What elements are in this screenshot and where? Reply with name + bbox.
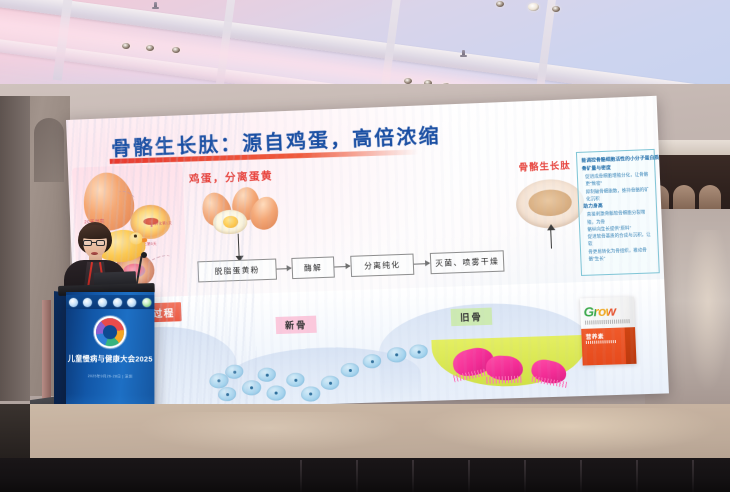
egg-stage-1-label: 孵化第1天 [154, 221, 172, 227]
lens-left [83, 240, 92, 246]
flow-arrow-3 [414, 263, 429, 265]
downlight-icon [122, 43, 130, 49]
downlight-icon [172, 47, 180, 53]
downlight-icon [528, 3, 539, 11]
conference-title: 儿童慢病与健康大会2025 [66, 354, 154, 365]
chick-beak [142, 238, 147, 242]
stage-skirting [0, 458, 730, 492]
skirt-fold [580, 460, 582, 492]
sprinkler-icon [154, 2, 157, 9]
skirt-fold [524, 460, 526, 492]
skirt-fold [356, 460, 358, 492]
mic-head [141, 252, 147, 258]
process-step-2: 酶解 [291, 256, 335, 279]
arch-icon [699, 185, 721, 211]
product-brand-logo: Grow [583, 302, 631, 321]
flow-arrow-down [238, 234, 240, 258]
conference-scene: 骨骼生长肽：源自鸡蛋，高倍浓缩 孵化第5天 孵化第12天 孵化第1天 20天出壳 [0, 0, 730, 492]
old-bone-label: 旧骨 [451, 308, 493, 327]
slide-canvas: 骨骼生长肽：源自鸡蛋，高倍浓缩 孵化第5天 孵化第12天 孵化第1天 20天出壳 [66, 96, 669, 412]
conference-date: 2025年9月26-28日 | 深圳 [66, 374, 154, 380]
skirt-fold [300, 460, 302, 492]
sponsor-logo-icon [83, 298, 92, 307]
glasses-icon [83, 240, 107, 246]
product-side-face [625, 327, 637, 364]
projection-screen: 骨骼生长肽：源自鸡蛋，高倍浓缩 孵化第5天 孵化第12天 孵化第1天 20天出壳 [66, 96, 669, 412]
new-bone-label: 新骨 [276, 316, 317, 334]
bullet-dot [151, 225, 153, 227]
sponsor-logo-icon [142, 298, 151, 307]
downlight-icon [552, 6, 560, 12]
product-subtitle-bar [585, 319, 631, 325]
eggs-heading: 鸡蛋，分离蛋黄 [189, 168, 274, 186]
left-wall-dark [0, 96, 30, 401]
process-step-1: 脱脂蛋黄粉 [197, 259, 277, 283]
osteoclast-ruffle [486, 376, 523, 384]
flow-arrow-up [550, 230, 552, 248]
product-package: Grow 营养素 [580, 297, 637, 366]
sponsor-logo-icon [113, 298, 122, 307]
skirt-fold [412, 460, 414, 492]
stage-light-pool [420, 408, 720, 454]
chick-eye [134, 234, 137, 237]
sponsor-logo-strip [66, 295, 154, 309]
skirt-fold [692, 460, 694, 492]
arch-icon [673, 185, 695, 211]
conference-emblem [96, 318, 124, 346]
sponsor-logo-icon [98, 298, 107, 307]
lens-right [96, 240, 105, 246]
wall-arch-decor [34, 118, 64, 182]
stage-light-pool-2 [140, 412, 400, 452]
skirt-fold [468, 460, 470, 492]
flow-arrow-1 [277, 268, 291, 270]
benefits-panel: 能调控骨骼细胞活性的小分子蛋白质 骨矿量与密度 促进成骨细胞增殖分化，让骨骼更"… [576, 149, 660, 276]
flow-arrow-2 [334, 266, 349, 268]
result-label: 骨骼生长肽 [518, 158, 571, 173]
benefit-item: 骨更易转化为骨组织，推动骨骼"生长" [585, 246, 655, 263]
sponsor-logo-icon [69, 298, 78, 307]
downlight-icon [146, 45, 154, 51]
stage-left-shadow [0, 404, 30, 464]
speaker-bangs [79, 225, 111, 239]
sprinkler-icon [462, 50, 465, 57]
sponsor-logo-icon [128, 298, 137, 307]
process-step-4: 灭菌、喷雾干燥 [430, 250, 505, 274]
right-wall-uplight [686, 230, 730, 390]
product-band-subtext [586, 340, 617, 344]
process-step-3: 分离纯化 [350, 254, 414, 277]
downlight-icon [496, 1, 504, 7]
skirt-fold [636, 460, 638, 492]
